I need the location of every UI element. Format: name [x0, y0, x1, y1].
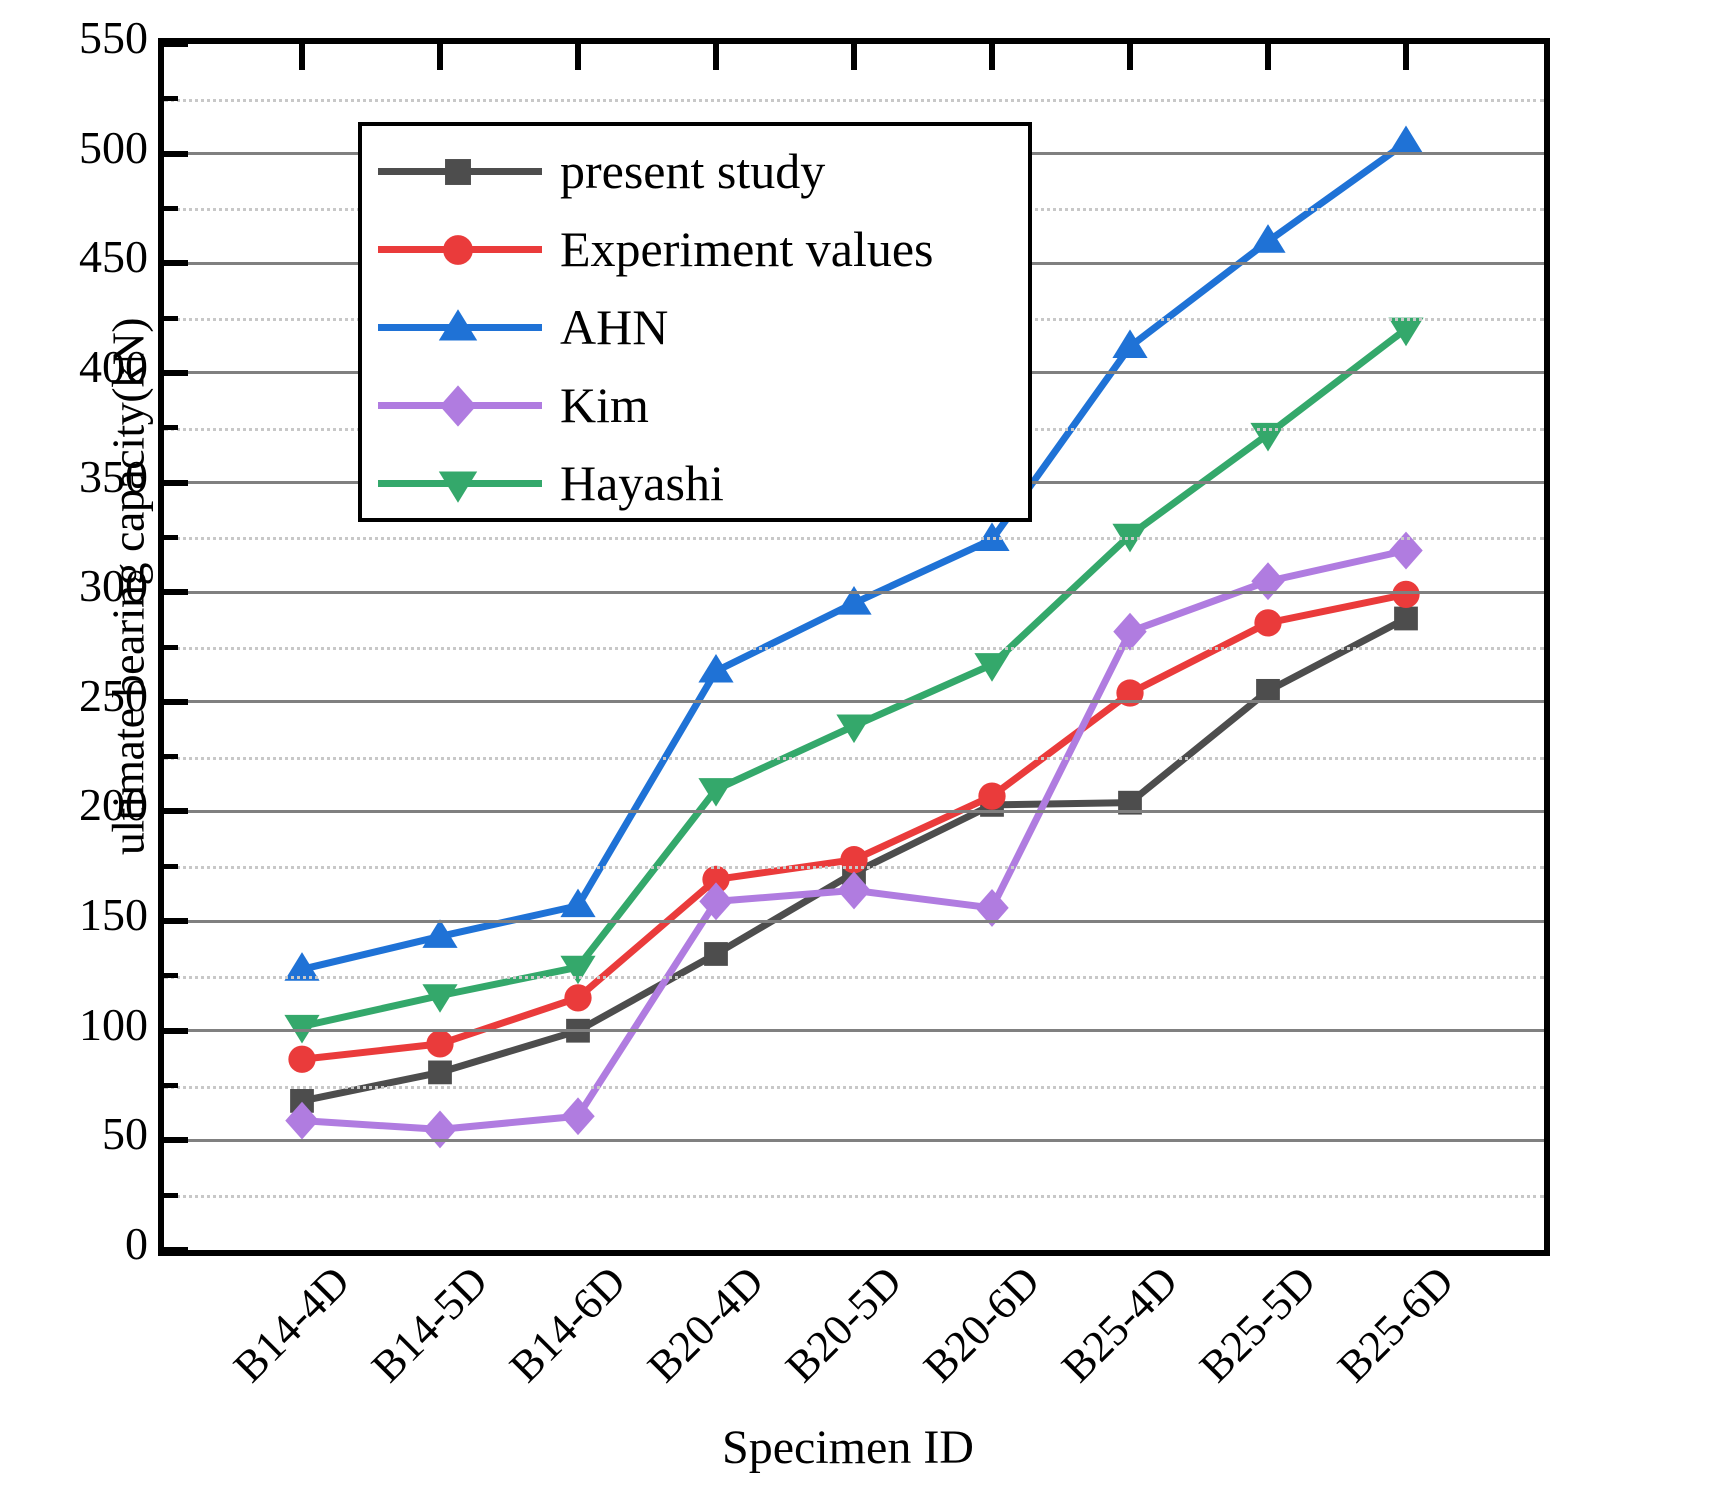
x-tick [1127, 44, 1133, 70]
y-tick-major [164, 480, 188, 486]
y-tick-major [164, 370, 188, 376]
series-experiment-values [288, 581, 1419, 1073]
legend-sample [376, 297, 544, 357]
y-tick-label: 350 [18, 454, 148, 500]
legend-marker-triangle-up-icon [433, 303, 483, 353]
data-point-marker [1113, 613, 1146, 651]
gridline-minor [164, 866, 1544, 869]
gridline-minor [164, 1086, 1544, 1089]
gridline-major [164, 700, 1544, 703]
data-point-marker [1251, 562, 1284, 600]
legend-label: present study [544, 146, 825, 196]
legend-marker-diamond-icon [433, 381, 483, 431]
x-tick [1403, 44, 1409, 70]
legend-sample [376, 219, 544, 279]
data-point-marker [1392, 581, 1419, 608]
y-tick-label: 50 [18, 1111, 148, 1157]
plot-area: present studyExperiment valuesAHNKimHaya… [158, 38, 1550, 1256]
legend-marker-square-icon [433, 147, 483, 197]
y-tick-major [164, 589, 188, 595]
y-tick-label: 150 [18, 892, 148, 938]
x-tick-label: B25-6D [1328, 1256, 1464, 1392]
gridline-major [164, 810, 1544, 813]
gridline-minor [164, 537, 1544, 540]
chart-figure: ultimate bearing capacity(kN) 0501001502… [0, 0, 1713, 1507]
legend-item[interactable]: Experiment values [362, 210, 1028, 288]
data-point-marker [428, 1061, 452, 1085]
y-tick-major [164, 41, 188, 47]
x-tick-label-box: B25-6D [1128, 1256, 1428, 1307]
data-point-marker [704, 942, 728, 966]
x-tick [1265, 44, 1271, 70]
legend-item[interactable]: Kim [362, 366, 1028, 444]
x-tick [989, 44, 995, 70]
data-point-marker [288, 1046, 315, 1073]
gridline-major [164, 591, 1544, 594]
y-tick-label: 550 [18, 15, 148, 61]
legend-marker-triangle-down-icon [433, 459, 483, 509]
legend-sample [376, 453, 544, 513]
x-tick [299, 44, 305, 70]
data-point-marker [1256, 679, 1280, 703]
y-tick-label: 450 [18, 234, 148, 280]
y-tick-minor [164, 425, 178, 430]
legend-label: AHN [544, 302, 668, 352]
y-tick-major [164, 1028, 188, 1034]
gridline-minor [164, 99, 1544, 102]
y-tick-label: 400 [18, 344, 148, 390]
y-tick-label: 100 [18, 1002, 148, 1048]
y-tick-minor [164, 1193, 178, 1198]
data-point-marker [1394, 607, 1418, 631]
y-tick-major [164, 1137, 188, 1143]
y-tick-minor [164, 754, 178, 759]
y-tick-minor [164, 206, 178, 211]
legend-label: Kim [544, 380, 649, 430]
y-tick-label: 250 [18, 673, 148, 719]
chart-legend: present studyExperiment valuesAHNKimHaya… [358, 122, 1032, 522]
y-tick-minor [164, 1083, 178, 1088]
gridline-major [164, 1029, 1544, 1032]
series-kim [285, 532, 1422, 1149]
gridline-minor [164, 647, 1544, 650]
y-tick-major [164, 918, 188, 924]
data-point-marker [1254, 609, 1281, 636]
y-tick-label: 300 [18, 563, 148, 609]
legend-marker-circle-icon [433, 225, 483, 275]
data-point-marker [560, 889, 595, 918]
legend-item[interactable]: AHN [362, 288, 1028, 366]
data-point-marker [564, 984, 591, 1011]
y-tick-major [164, 699, 188, 705]
x-tick [713, 44, 719, 70]
x-tick [575, 44, 581, 70]
x-axis-title: Specimen ID [158, 1420, 1538, 1475]
gridline-major [164, 920, 1544, 923]
gridline-minor [164, 976, 1544, 979]
y-tick-major [164, 808, 188, 814]
y-tick-label: 500 [18, 125, 148, 171]
legend-sample [376, 141, 544, 201]
legend-label: Experiment values [544, 224, 934, 274]
x-tick [437, 44, 443, 70]
legend-item[interactable]: present study [362, 132, 1028, 210]
y-tick-minor [164, 96, 178, 101]
y-tick-minor [164, 535, 178, 540]
y-tick-major [164, 260, 188, 266]
data-point-marker [978, 782, 1005, 809]
x-axis-tick-labels: B14-4DB14-5DB14-6DB20-4DB20-5DB20-6DB25-… [158, 1250, 1538, 1430]
legend-sample [376, 375, 544, 435]
legend-label: Hayashi [544, 458, 724, 508]
y-tick-minor [164, 973, 178, 978]
y-tick-minor [164, 316, 178, 321]
gridline-minor [164, 1195, 1544, 1198]
y-tick-label: 200 [18, 782, 148, 828]
gridline-major [164, 1139, 1544, 1142]
x-tick [851, 44, 857, 70]
legend-item[interactable]: Hayashi [362, 444, 1028, 522]
data-point-marker [426, 1030, 453, 1057]
data-point-marker [423, 1110, 456, 1148]
y-tick-minor [164, 645, 178, 650]
y-tick-minor [164, 864, 178, 869]
y-tick-major [164, 151, 188, 157]
gridline-minor [164, 757, 1544, 760]
data-point-marker [1388, 126, 1423, 155]
